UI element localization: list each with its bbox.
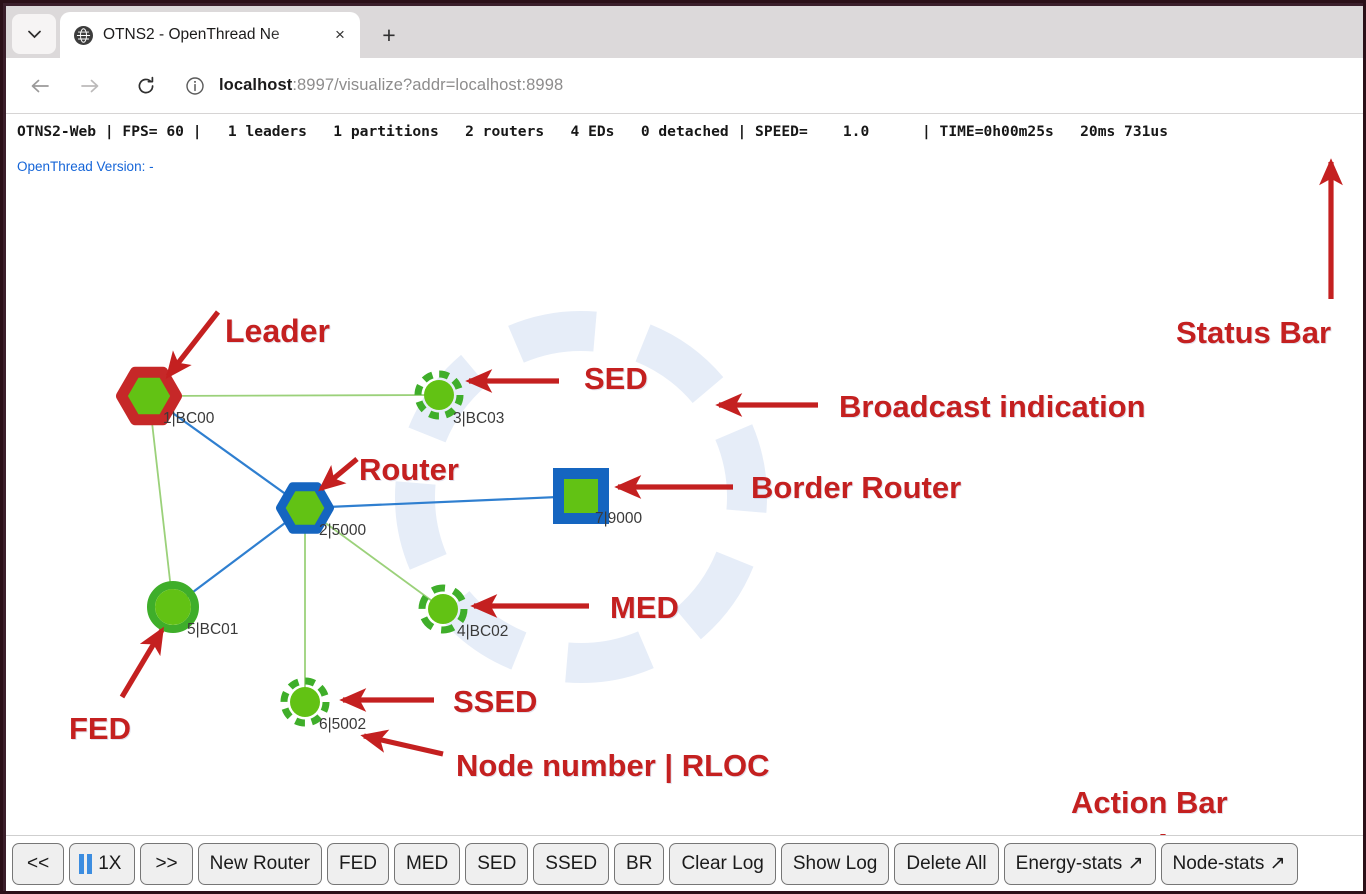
url-path: :8997/visualize?addr=localhost:8998: [292, 76, 563, 94]
ssed-button[interactable]: SSED: [533, 843, 609, 885]
show-log-button[interactable]: Show Log: [781, 843, 890, 885]
node-shape-circle[interactable]: [424, 380, 454, 410]
new-router-button[interactable]: New Router: [198, 843, 322, 885]
otns-page: OTNS2-Web | FPS= 60 | 1 leaders 1 partit…: [6, 114, 1366, 891]
speed-button[interactable]: 1X: [69, 843, 135, 885]
annotation-border-router: Border Router: [751, 470, 961, 506]
med-button[interactable]: MED: [394, 843, 460, 885]
annotation-broadcast: Broadcast indication: [839, 389, 1146, 425]
annotation-leader: Leader: [225, 313, 330, 350]
node-stats-button[interactable]: Node-stats ↗: [1161, 843, 1298, 885]
globe-icon: [74, 26, 93, 45]
url-text: localhost:8997/visualize?addr=localhost:…: [219, 76, 563, 95]
sed-button[interactable]: SED: [465, 843, 528, 885]
site-info-icon[interactable]: [180, 71, 210, 101]
node-label-4: 4|BC02: [457, 623, 508, 641]
chevron-down-icon: [28, 26, 41, 43]
node-shape-circle[interactable]: [428, 594, 458, 624]
delete-all-button[interactable]: Delete All: [894, 843, 998, 885]
address-bar[interactable]: localhost:8997/visualize?addr=localhost:…: [180, 66, 1348, 106]
new-tab-button[interactable]: +: [372, 18, 406, 52]
browser-window: OTNS2 - OpenThread Ne × +: [0, 0, 1366, 894]
node-label-2: 2|5000: [319, 522, 366, 540]
pause-icon: [79, 854, 92, 874]
navigation-bar: localhost:8997/visualize?addr=localhost:…: [6, 58, 1366, 114]
annotation-ssed: SSED: [453, 684, 537, 720]
node-label-7: 7|9000: [595, 510, 642, 528]
node-shape-circle[interactable]: [290, 687, 320, 717]
reload-icon[interactable]: [126, 66, 166, 106]
energy-stats-button[interactable]: Energy-stats ↗: [1004, 843, 1156, 885]
tab-title: OTNS2 - OpenThread Ne: [103, 26, 324, 44]
clear-log-button[interactable]: Clear Log: [669, 843, 775, 885]
link-1-3: [149, 395, 439, 396]
back-icon[interactable]: [20, 66, 60, 106]
annotation-node-number-rloc: Node number | RLOC: [456, 748, 770, 784]
annotation-router: Router: [359, 452, 459, 488]
annotation-status-bar: Status Bar: [1176, 315, 1331, 351]
annotation-action-bar: Action Bar: [1071, 785, 1228, 821]
tab-list-menu-button[interactable]: [12, 14, 56, 54]
speed-label: 1X: [98, 853, 121, 875]
node-label-1: 1|BC00: [163, 410, 214, 428]
step-forward-button[interactable]: >>: [140, 843, 192, 885]
br-button[interactable]: BR: [614, 843, 664, 885]
link-2-7: [305, 496, 581, 508]
close-icon[interactable]: ×: [328, 23, 352, 47]
node-label-6: 6|5002: [319, 716, 366, 734]
node-shape-circle[interactable]: [155, 589, 191, 625]
browser-tab[interactable]: OTNS2 - OpenThread Ne ×: [60, 12, 360, 58]
forward-icon[interactable]: [70, 66, 110, 106]
step-back-button[interactable]: <<: [12, 843, 64, 885]
node-label-5: 5|BC01: [187, 621, 238, 639]
tab-strip: OTNS2 - OpenThread Ne × +: [6, 6, 1366, 58]
annotation-sed: SED: [584, 361, 648, 397]
action-bar: <<1X>>New RouterFEDMEDSEDSSEDBRClear Log…: [6, 835, 1366, 891]
fed-button[interactable]: FED: [327, 843, 389, 885]
annotation-med: MED: [610, 590, 679, 626]
annotation-fed: FED: [69, 711, 131, 747]
node-label-3: 3|BC03: [453, 410, 504, 428]
url-host: localhost: [219, 76, 292, 94]
